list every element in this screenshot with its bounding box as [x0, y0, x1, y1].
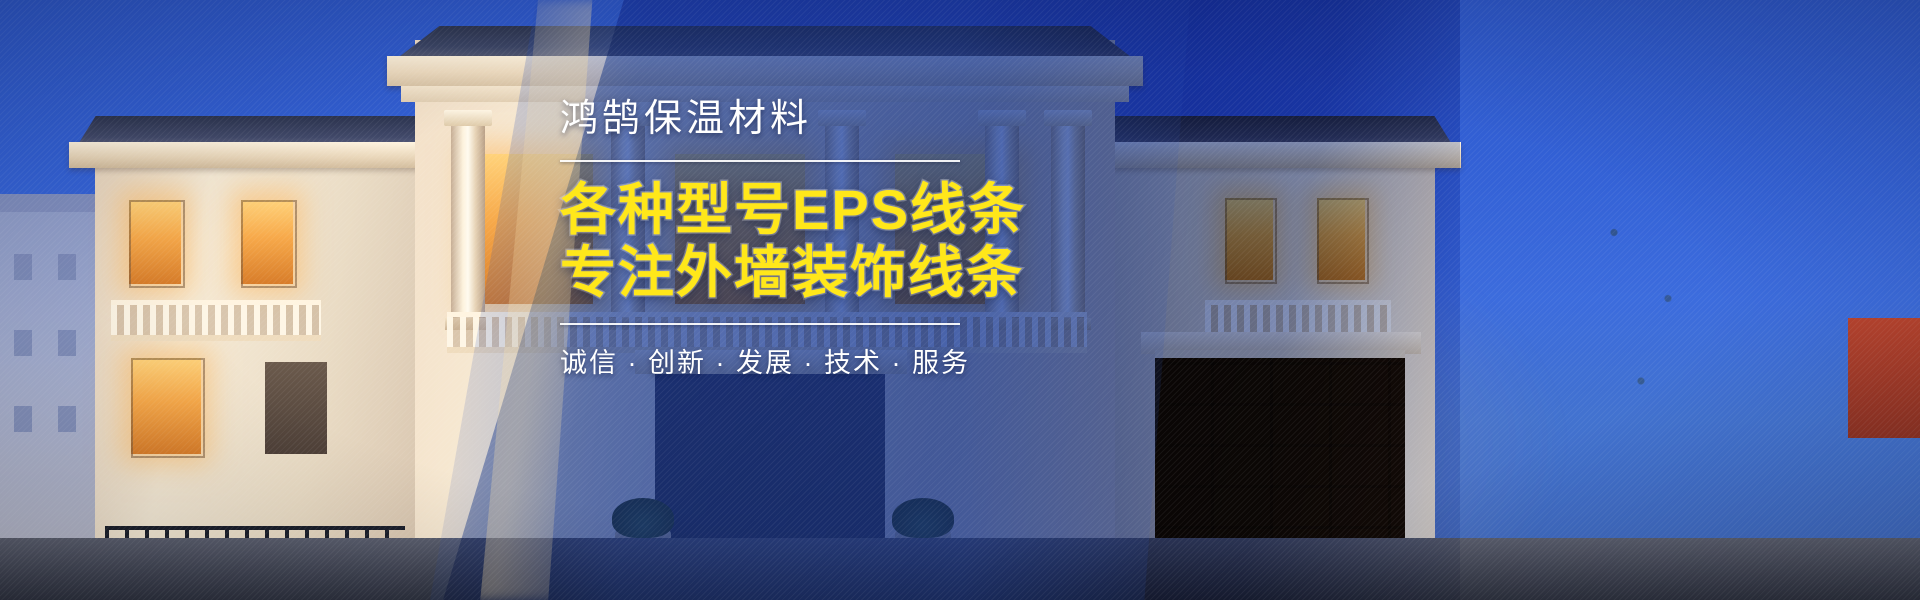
- divider-upper: [560, 160, 960, 162]
- tagline: 诚信 · 创新 · 发展 · 技术 · 服务: [560, 341, 1020, 380]
- banner-text-block: 鸿鹄保温材料 各种型号EPS线条 专注外墙装饰线条 诚信 · 创新 · 发展 ·…: [560, 96, 1020, 380]
- company-name: 鸿鹄保温材料: [560, 96, 1020, 144]
- tree-silhouette: [1560, 150, 1740, 480]
- divider-lower: [560, 323, 960, 325]
- hero-banner: 鸿鹄保温材料 各种型号EPS线条 专注外墙装饰线条 诚信 · 创新 · 发展 ·…: [0, 0, 1920, 600]
- headline-line-2: 专注外墙装饰线条: [560, 241, 1020, 305]
- left-wing-cornice: [69, 142, 457, 168]
- red-object: [1848, 318, 1920, 438]
- headline-line-1: 各种型号EPS线条: [560, 178, 1020, 242]
